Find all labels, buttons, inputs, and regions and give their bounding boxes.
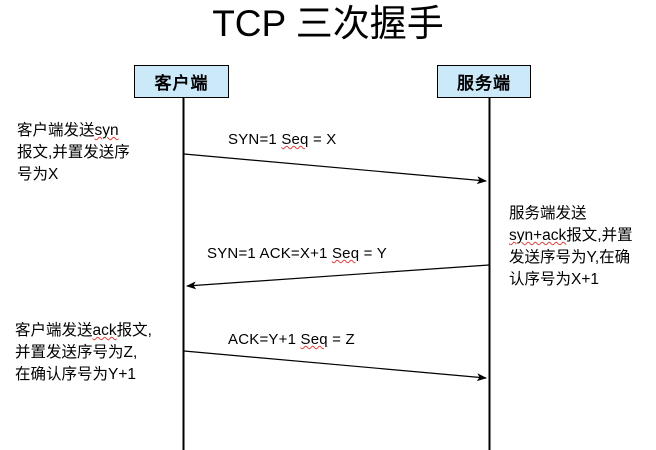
spellcheck-flagged-word: Seq [332, 245, 359, 262]
note-client-ack-line-1: 客户端发送ack报文, [15, 320, 195, 342]
spellcheck-flagged-word: syn [95, 122, 119, 139]
actor-box-client[interactable]: 客户端 [134, 65, 229, 98]
note-client-ack: 客户端发送ack报文, 并置发送序号为Z, 在确认序号为Y+1 [15, 320, 195, 386]
spellcheck-flagged-word: syn+ack [509, 227, 566, 244]
message-arrow-2 [187, 265, 489, 286]
note-server-synack-line-3: 发送序号为Y,在确 [509, 247, 656, 269]
spellcheck-flagged-word: ack [93, 322, 117, 339]
note-client-syn-line-3: 号为X [17, 164, 187, 186]
message-label-3-text: ACK=Y+1 Seq = Z [228, 331, 355, 348]
message-label-2-text: SYN=1 ACK=X+1 Seq = Y [207, 245, 387, 262]
actor-label-client: 客户端 [155, 69, 209, 94]
message-label-1-text: SYN=1 Seq = X [228, 131, 337, 148]
note-client-syn-line-1: 客户端发送syn [17, 120, 187, 142]
message-label-2: SYN=1 ACK=X+1 Seq = Y [207, 245, 387, 262]
message-label-1: SYN=1 Seq = X [228, 131, 337, 148]
spellcheck-flagged-word: Seq [300, 331, 327, 348]
note-server-synack-line-1: 服务端发送 [509, 203, 656, 225]
message-arrow-3 [184, 351, 486, 378]
tcp-handshake-diagram: TCP 三次握手 客户端 服务端 SYN=1 Seq = X SYN=1 ACK… [0, 0, 656, 450]
actor-box-server[interactable]: 服务端 [437, 65, 531, 98]
message-arrow-1 [184, 154, 486, 181]
note-client-ack-line-2: 并置发送序号为Z, [15, 342, 195, 364]
note-client-syn-line-2: 报文,并置发送序 [17, 142, 187, 164]
note-server-synack-line-4: 认序号为X+1 [509, 269, 656, 291]
spellcheck-flagged-word: Seq [281, 131, 308, 148]
actor-label-server: 服务端 [457, 69, 511, 94]
note-server-synack: 服务端发送 syn+ack报文,并置 发送序号为Y,在确 认序号为X+1 [509, 203, 656, 291]
message-label-3: ACK=Y+1 Seq = Z [228, 331, 355, 348]
note-client-syn: 客户端发送syn 报文,并置发送序 号为X [17, 120, 187, 186]
note-client-ack-line-3: 在确认序号为Y+1 [15, 364, 195, 386]
note-server-synack-line-2: syn+ack报文,并置 [509, 225, 656, 247]
